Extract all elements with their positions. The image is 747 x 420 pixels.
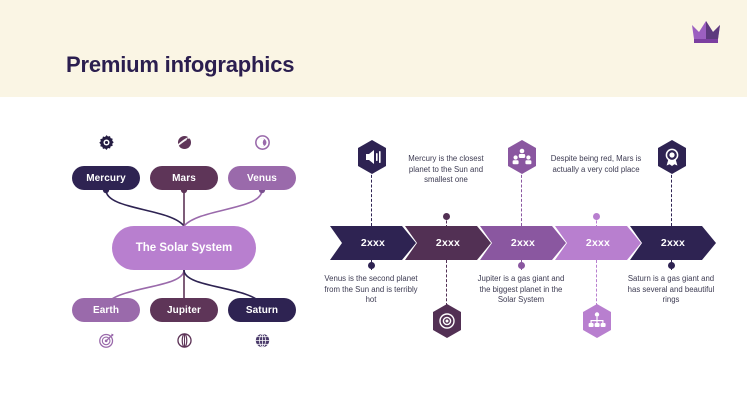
timeline-icon-5 — [657, 140, 687, 174]
mindmap-node-saturn[interactable]: Saturn — [228, 298, 296, 322]
timeline-connector-line — [521, 170, 522, 226]
mindmap-node-mars[interactable]: Mars — [150, 166, 218, 190]
mindmap-node-label: Jupiter — [167, 305, 201, 316]
mindmap-node-label: Venus — [247, 173, 277, 184]
timeline-connector-line — [521, 260, 522, 270]
mindmap-center-label: The Solar System — [136, 242, 233, 254]
mindmap-center-node[interactable]: The Solar System — [112, 226, 256, 270]
timeline-connector-line — [671, 260, 672, 270]
timeline-step-5[interactable]: 2xxx — [630, 226, 716, 260]
timeline-step-2[interactable]: 2xxx — [405, 226, 491, 260]
slide-header: Premium infographics — [0, 0, 747, 97]
timeline-step-label: 2xxx — [630, 226, 716, 260]
planet-timeline: 2xxx 2xxx 2xxx 2xxx 2xxx — [330, 132, 720, 362]
globe-grid-icon — [254, 332, 271, 349]
timeline-step-label: 2xxx — [480, 226, 566, 260]
planet-ring-icon — [176, 134, 193, 151]
timeline-text-2: Mercury is the closest planet to the Sun… — [399, 154, 493, 186]
timeline-connector-line — [596, 260, 597, 306]
planet-orbit-icon — [176, 332, 193, 349]
gear-sun-icon — [98, 134, 115, 151]
timeline-connector-line — [671, 170, 672, 226]
timeline-step-3[interactable]: 2xxx — [480, 226, 566, 260]
mindmap-node-label: Saturn — [246, 305, 278, 316]
timeline-text-3: Jupiter is a gas giant and the biggest p… — [474, 274, 568, 306]
mindmap-node-venus[interactable]: Venus — [228, 166, 296, 190]
timeline-step-label: 2xxx — [330, 226, 416, 260]
timeline-icon-4 — [582, 304, 612, 338]
timeline-connector-line — [446, 260, 447, 306]
radar-target-icon — [98, 332, 115, 349]
page-title: Premium infographics — [66, 52, 294, 78]
timeline-step-4[interactable]: 2xxx — [555, 226, 641, 260]
timeline-icon-2 — [432, 304, 462, 338]
slide-canvas: Premium infographics — [0, 0, 747, 420]
crown-icon — [688, 16, 724, 46]
timeline-text-4: Despite being red, Mars is actually a ve… — [549, 154, 643, 175]
mindmap-node-jupiter[interactable]: Jupiter — [150, 298, 218, 322]
moon-circle-icon — [254, 134, 271, 151]
mindmap-node-label: Earth — [93, 305, 119, 316]
mindmap-node-mercury[interactable]: Mercury — [72, 166, 140, 190]
mindmap-node-label: Mars — [172, 173, 196, 184]
timeline-step-label: 2xxx — [555, 226, 641, 260]
timeline-text-5: Saturn is a gas giant and has several an… — [624, 274, 718, 306]
timeline-icon-1 — [357, 140, 387, 174]
timeline-step-1[interactable]: 2xxx — [330, 226, 416, 260]
timeline-connector-line — [371, 170, 372, 226]
timeline-icon-3 — [507, 140, 537, 174]
timeline-connector-line — [371, 260, 372, 270]
timeline-step-label: 2xxx — [405, 226, 491, 260]
mindmap-node-label: Mercury — [86, 173, 126, 184]
mindmap-node-earth[interactable]: Earth — [72, 298, 140, 322]
solar-system-mindmap: Mercury Mars Venus The Solar System Eart… — [60, 128, 320, 360]
timeline-text-1: Venus is the second planet from the Sun … — [324, 274, 418, 306]
